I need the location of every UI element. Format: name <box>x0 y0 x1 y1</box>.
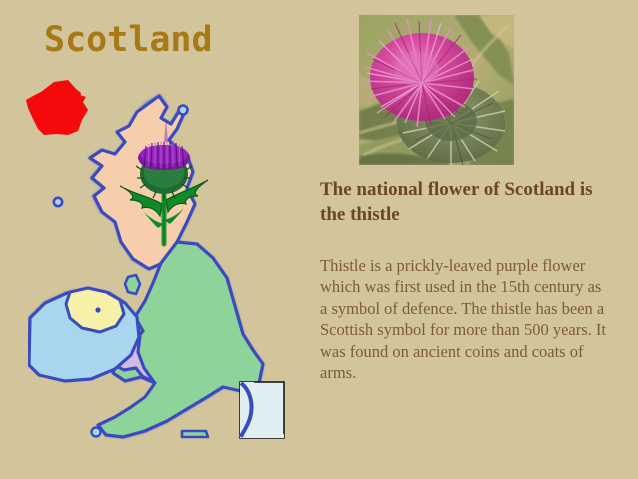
content-body: Thistle is a prickly-leaved purple flowe… <box>320 255 610 384</box>
thistle-photograph <box>359 15 514 165</box>
slide-canvas: Scotland <box>0 0 638 479</box>
content-heading: The national flower of Scotland is the t… <box>320 178 620 227</box>
page-title: Scotland <box>44 22 213 59</box>
thistle-illustration <box>112 112 216 252</box>
